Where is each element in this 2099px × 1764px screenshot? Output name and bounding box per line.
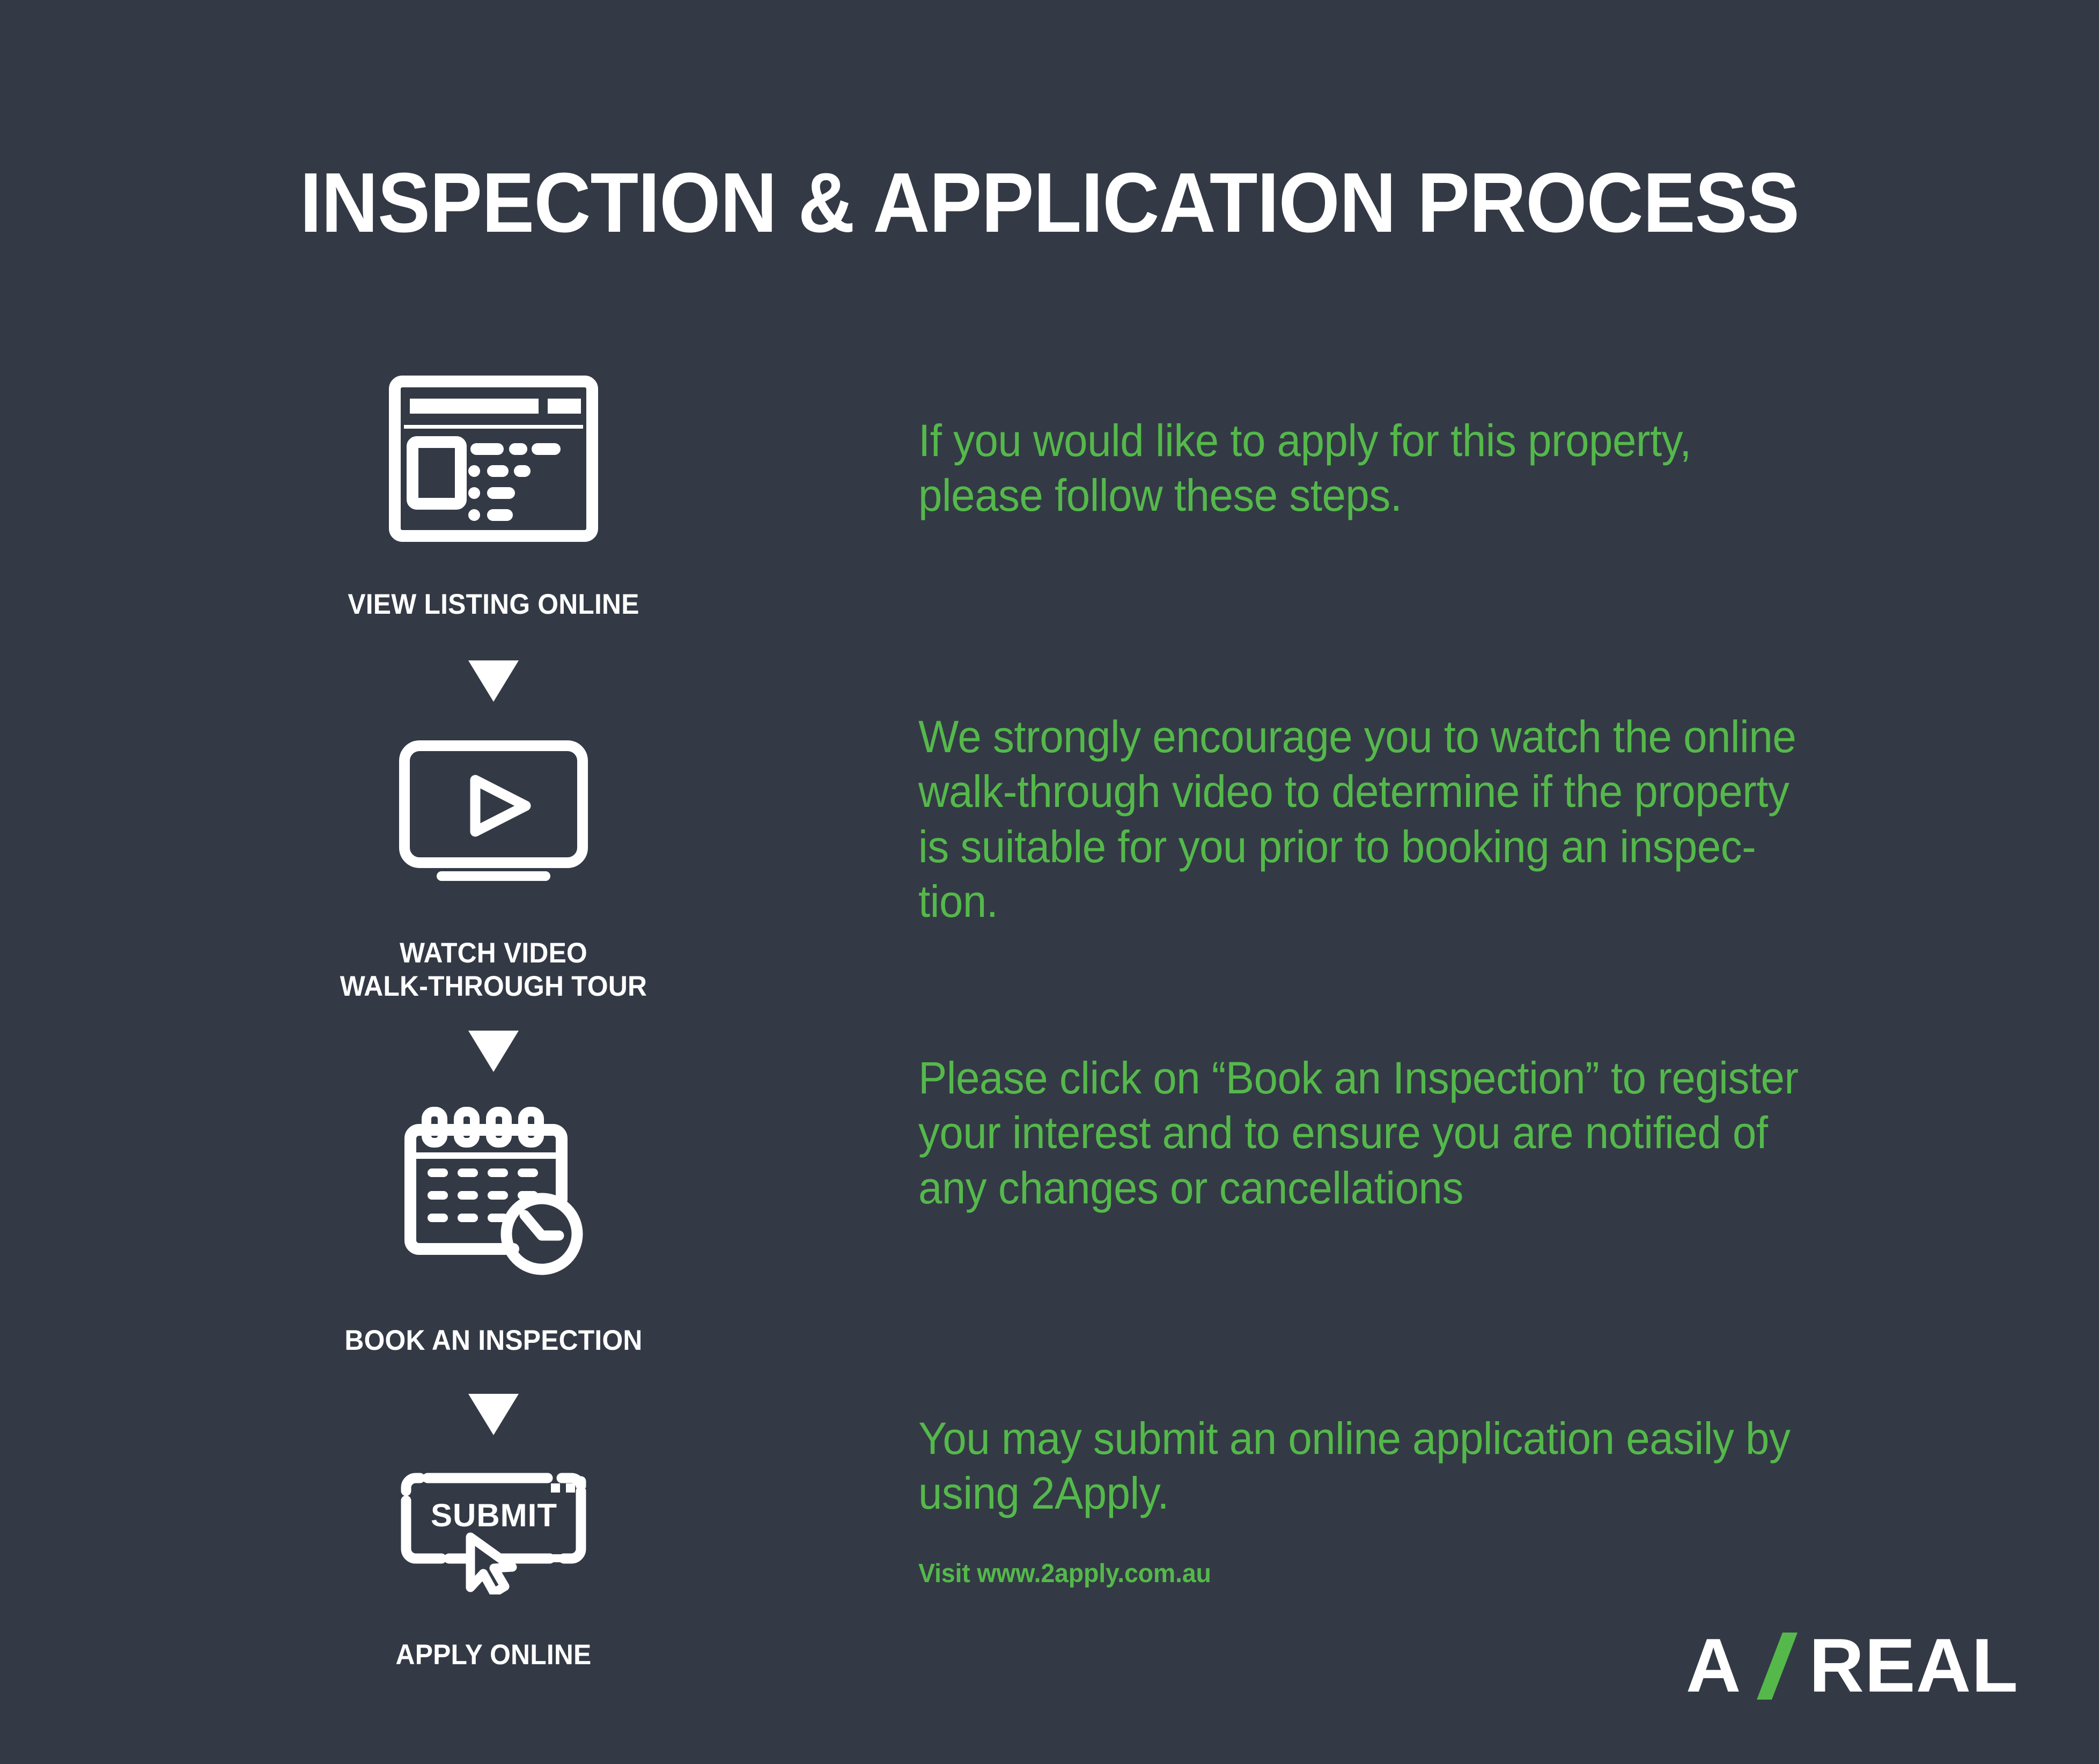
logo-slash-icon (1749, 1633, 1806, 1700)
logo-word-real: REAL (1809, 1628, 2019, 1704)
spacer (300, 1072, 687, 1100)
submit-button-cursor-icon: SUBMIT (389, 1468, 598, 1594)
step-label-apply-online: APPLY ONLINE (312, 1638, 675, 1672)
step-icon-container (300, 370, 687, 542)
flow-arrow-down-icon (300, 1031, 687, 1072)
step-body-watch-video: We strongly encourage you to watch the o… (918, 709, 1846, 929)
spacer (300, 1435, 687, 1468)
step-label-book-inspection: BOOK AN INSPECTION (312, 1324, 675, 1358)
step-label-watch-video: WATCH VIDEO WALK-THROUGH TOUR (312, 937, 675, 1004)
step-body-view-listing: If you would like to apply for this prop… (918, 413, 1846, 523)
logo-letter-a: A (1686, 1628, 1742, 1704)
infographic-poster: INSPECTION & APPLICATION PROCESS (0, 0, 2099, 1764)
step-icon-container: SUBMIT (300, 1468, 687, 1594)
spacer (300, 702, 687, 739)
step-body-book-inspection: Please click on “Book an Inspection” to … (918, 1050, 1846, 1215)
spacer (300, 1357, 687, 1394)
process-step-book-inspection: BOOK AN INSPECTION (300, 1100, 687, 1358)
browser-listing-icon (389, 376, 598, 542)
submit-icon-label: SUBMIT (431, 1497, 557, 1533)
visit-url-line[interactable]: Visit www.2apply.com.au (918, 1559, 1211, 1589)
spacer (300, 1004, 687, 1031)
step-icon-container (300, 739, 687, 884)
process-flow-column: VIEW LISTING ONLINE WATCH VIDEO WALK-THR… (300, 370, 687, 1672)
flow-arrow-down-icon (300, 1394, 687, 1435)
step-icon-container (300, 1100, 687, 1282)
process-step-apply-online: SUBMIT APPLY ONLINE (300, 1468, 687, 1672)
step-body-apply-online: You may submit an online application eas… (918, 1411, 1846, 1521)
process-step-watch-video: WATCH VIDEO WALK-THROUGH TOUR (300, 739, 687, 1004)
calendar-clock-icon (400, 1105, 587, 1282)
brand-logo: A REAL (1686, 1631, 2019, 1701)
flow-arrow-down-icon (300, 660, 687, 702)
page-title: INSPECTION & APPLICATION PROCESS (73, 159, 2026, 248)
video-play-monitor-icon (397, 739, 590, 884)
process-step-view-listing: VIEW LISTING ONLINE (300, 370, 687, 622)
spacer (300, 622, 687, 660)
step-label-view-listing: VIEW LISTING ONLINE (312, 588, 675, 622)
